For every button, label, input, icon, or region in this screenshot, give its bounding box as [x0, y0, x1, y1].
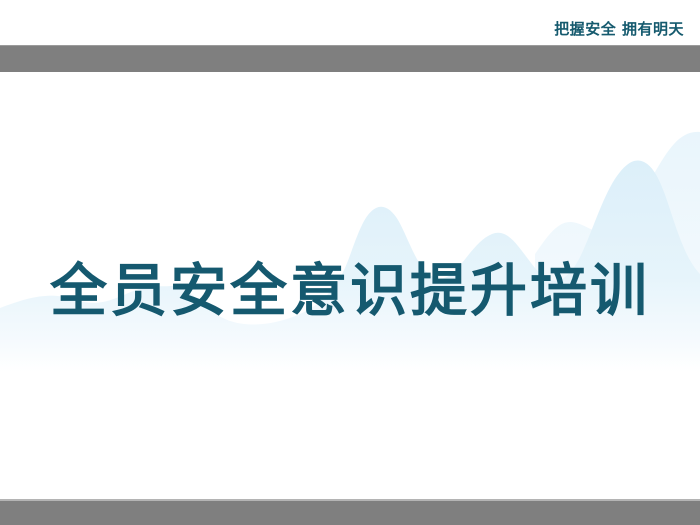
slide-canvas: 把握安全 拥有明天: [0, 0, 700, 525]
bottom-divider-bar: [0, 499, 700, 525]
slide-tagline: 把握安全 拥有明天: [554, 22, 684, 37]
mountain-decoration: [0, 72, 700, 372]
cloud-shape-left: [0, 72, 300, 286]
top-divider-bar: [0, 45, 700, 72]
slide-title: 全员安全意识提升培训: [0, 260, 700, 323]
cloud-shape-mid: [292, 72, 452, 196]
